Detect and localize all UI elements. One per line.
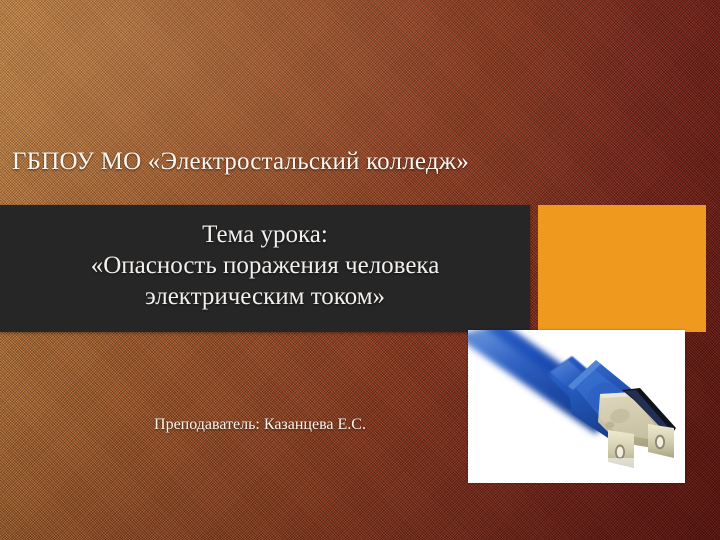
slide-title: Тема урока: «Опасность поражения человек… — [0, 219, 530, 312]
plug-illustration — [468, 330, 685, 483]
institution-name: ГБПОУ МО «Электростальский колледж» — [12, 146, 632, 178]
title-line-3: электрическим током» — [0, 281, 530, 312]
orange-accent-block — [538, 205, 706, 332]
power-cord-plug-photo — [468, 330, 685, 483]
presentation-slide: ГБПОУ МО «Электростальский колледж» Тема… — [0, 0, 720, 540]
title-line-1: Тема урока: — [0, 219, 530, 250]
presenter-name: Преподаватель: Казанцева Е.С. — [0, 414, 520, 436]
title-line-2: «Опасность поражения человека — [0, 250, 530, 281]
title-panel: Тема урока: «Опасность поражения человек… — [0, 205, 530, 332]
